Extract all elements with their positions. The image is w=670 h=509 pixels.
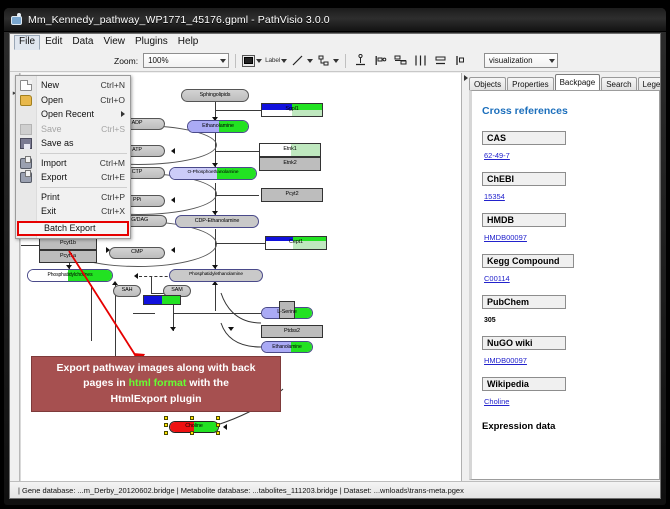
- node-label: PPi: [133, 198, 141, 203]
- tab-properties[interactable]: Properties: [507, 77, 553, 90]
- menu-data[interactable]: Data: [67, 35, 98, 49]
- menu-item-accelerator: Ctrl+N: [101, 80, 130, 90]
- tab-backpage[interactable]: Backpage: [555, 74, 601, 90]
- node-label: Sgpl1: [285, 107, 298, 112]
- zoom-combobox[interactable]: 100%: [143, 53, 229, 68]
- chevron-right-icon: [121, 111, 125, 117]
- annotation-line3: HtmlExport plugin: [111, 393, 202, 405]
- tab-search[interactable]: Search: [601, 77, 636, 90]
- window-frame: Mm_Kennedy_pathway_WP1771_45176.gpml - P…: [4, 8, 666, 505]
- same-width-icon[interactable]: [412, 52, 429, 69]
- visualization-combobox[interactable]: visualization: [484, 53, 558, 68]
- node-label: Sphingolipids: [200, 93, 231, 98]
- menu-item-accelerator: Ctrl+P: [101, 192, 130, 202]
- annotation-line2-before: pages in: [83, 377, 129, 389]
- menu-item-print[interactable]: Print Ctrl+P: [16, 190, 130, 205]
- xref-chebi: ChEBI 15354: [482, 172, 649, 204]
- zoom-value: 100%: [148, 56, 168, 65]
- menu-item-accelerator: Ctrl+O: [100, 95, 130, 105]
- node-label: Pcyt1b: [60, 241, 76, 246]
- node-label: CMP: [131, 250, 143, 255]
- menu-item-label: Batch Export: [44, 223, 127, 233]
- node-label: Phosphatidylethanolamine: [189, 273, 243, 278]
- xref-value-link[interactable]: C00114: [484, 274, 510, 283]
- chevron-down-icon: [549, 59, 555, 63]
- menu-item-accelerator: Ctrl+M: [100, 158, 130, 168]
- node-label: ATP: [132, 148, 142, 153]
- menu-item-label: Print: [41, 192, 101, 202]
- xref-hmdb: HMDB HMDB00097: [482, 213, 649, 245]
- toolbar: Zoom: 100% Label: [10, 50, 660, 72]
- xref-value-link[interactable]: 62-49-7: [484, 151, 510, 160]
- menu-item-accelerator: Ctrl+E: [101, 172, 130, 182]
- menu-item-label: Save as: [41, 138, 125, 148]
- xref-kegg-compound: Kegg Compound C00114: [482, 254, 649, 286]
- node-label: Phosphatidylcholines: [48, 273, 93, 278]
- xref-source-label: Wikipedia: [482, 377, 566, 391]
- line-tool-button[interactable]: [290, 52, 313, 69]
- window-titlebar: Mm_Kennedy_pathway_WP1771_45176.gpml - P…: [4, 8, 666, 32]
- open-folder-icon: [20, 95, 32, 106]
- xref-source-label: Kegg Compound: [482, 254, 574, 268]
- xref-value-link[interactable]: Choline: [484, 397, 509, 406]
- interaction-tool-button[interactable]: [316, 52, 339, 69]
- menu-item-label: Import: [41, 158, 100, 168]
- xref-source-label: PubChem: [482, 295, 566, 309]
- menu-item-import[interactable]: Import Ctrl+M: [16, 156, 130, 171]
- xref-source-label: HMDB: [482, 213, 566, 227]
- menu-item-accelerator: Ctrl+X: [101, 206, 130, 216]
- arrowhead-icon: [223, 424, 227, 430]
- resize-handle-nw[interactable]: [164, 416, 168, 420]
- expression-half-left: [144, 296, 162, 304]
- node-label: Pcyt2: [286, 192, 299, 197]
- menu-item-accelerator: Ctrl+S: [101, 124, 130, 134]
- same-height-icon[interactable]: [392, 52, 409, 69]
- menu-item-open-recent[interactable]: Open Recent: [16, 107, 130, 122]
- datanode-tool-icon: [242, 55, 255, 67]
- node-label: L-Serine: [277, 310, 297, 315]
- menu-item-exit[interactable]: Exit Ctrl+X: [16, 204, 130, 219]
- node-label: Ethanolamine: [272, 345, 301, 350]
- chevron-down-icon: [333, 59, 339, 63]
- xref-source-label: ChEBI: [482, 172, 566, 186]
- save-disk-icon: [20, 124, 32, 135]
- resize-handle-se[interactable]: [216, 431, 220, 435]
- xref-source-label: NuGO wiki: [482, 336, 566, 350]
- menu-item-label: New: [41, 80, 101, 90]
- menu-view[interactable]: View: [98, 35, 130, 49]
- menu-item-label: Open Recent: [41, 109, 121, 119]
- xref-source-label: CAS: [482, 131, 566, 145]
- menu-item-save-as[interactable]: Save as: [16, 136, 130, 151]
- align-left-icon[interactable]: [372, 52, 389, 69]
- menu-help[interactable]: Help: [173, 35, 204, 49]
- window-title: Mm_Kennedy_pathway_WP1771_45176.gpml - P…: [28, 14, 330, 26]
- node-label: Cept1: [289, 240, 303, 245]
- label-tool-button[interactable]: Label: [265, 57, 287, 64]
- node-label: CDP-Ethanolamine: [195, 219, 240, 224]
- menu-file[interactable]: File: [14, 35, 40, 50]
- node-label: ADP: [132, 121, 143, 126]
- align-top-icon[interactable]: [352, 52, 369, 69]
- xref-value-link[interactable]: HMDB00097: [484, 233, 527, 242]
- resize-handle-w[interactable]: [164, 423, 168, 427]
- node-label: Etnk2: [283, 161, 296, 166]
- xref-value-link[interactable]: 15354: [484, 192, 505, 201]
- interaction-tool-icon: [316, 52, 332, 69]
- resize-handle-s[interactable]: [190, 431, 194, 435]
- toolbar-separator: [345, 54, 346, 68]
- selection-handles[interactable]: [164, 416, 224, 438]
- resize-handle-n[interactable]: [190, 416, 194, 420]
- xref-nugo-wiki: NuGO wiki HMDB00097: [482, 336, 649, 368]
- export-icon: [20, 172, 32, 183]
- line-tool-icon: [290, 52, 306, 69]
- statusbar-text: | Gene database: ...m_Derby_20120602.bri…: [18, 486, 464, 495]
- node-label: SAH: [122, 288, 133, 293]
- node-label: Pcyt1a: [60, 254, 76, 259]
- node-label: SAM: [171, 288, 182, 293]
- xref-value-link[interactable]: HMDB00097: [484, 356, 527, 365]
- resize-handle-sw[interactable]: [164, 431, 168, 435]
- node-label: Etnk1: [283, 147, 296, 152]
- menu-edit[interactable]: Edit: [40, 35, 67, 49]
- annotation-line2-after: with the: [186, 377, 229, 389]
- stack-icon[interactable]: [432, 52, 449, 69]
- import-icon: [20, 158, 32, 169]
- expression-data-title: Expression data: [482, 421, 649, 432]
- resize-handle-ne[interactable]: [216, 416, 220, 420]
- menu-item-label: Open: [41, 95, 100, 105]
- node-label: O-Phosphoethanolamine: [188, 171, 239, 176]
- annotation-line1: Export pathway images along with back: [57, 362, 256, 374]
- menu-plugins[interactable]: Plugins: [130, 35, 173, 49]
- resize-handle-e[interactable]: [216, 423, 220, 427]
- file-menu-dropdown[interactable]: New Ctrl+N Open Ctrl+O Open Recent Save …: [15, 75, 131, 239]
- menu-item-new[interactable]: New Ctrl+N: [16, 78, 130, 93]
- panel-title: Cross references: [482, 105, 649, 117]
- menu-separator: [40, 187, 127, 188]
- chevron-down-icon: [220, 59, 226, 63]
- zoom-label: Zoom:: [114, 56, 138, 66]
- chevron-down-icon: [281, 59, 287, 63]
- xref-wikipedia: Wikipedia Choline: [482, 377, 649, 409]
- screenshot-root: Mm_Kennedy_pathway_WP1771_45176.gpml - P…: [0, 0, 670, 509]
- new-document-icon: [20, 80, 32, 91]
- annotation-callout: Export pathway images along with back pa…: [31, 356, 281, 412]
- node-label: Ethanolamine: [202, 124, 234, 129]
- annotation-highlight: html format: [129, 377, 187, 389]
- sidebar: Objects Properties Backpage Search Legen…: [462, 73, 661, 482]
- application-surface: File Edit Data View Plugins Help Zoom: 1…: [9, 33, 661, 499]
- statusbar: | Gene database: ...m_Derby_20120602.bri…: [10, 481, 661, 498]
- tab-objects[interactable]: Objects: [469, 77, 506, 90]
- menu-item-label: Save: [41, 124, 101, 134]
- group-icon[interactable]: [452, 52, 469, 69]
- xref-pubchem: PubChem 305: [482, 295, 649, 327]
- xref-value-text: 305: [484, 317, 496, 324]
- menu-separator: [40, 153, 127, 154]
- backpage-panel: Cross references CAS 62-49-7 ChEBI 15354…: [469, 90, 660, 480]
- node-label: Ptdss2: [284, 329, 300, 334]
- visualization-value: visualization: [489, 56, 533, 65]
- menu-item-export[interactable]: Export Ctrl+E: [16, 170, 130, 185]
- save-as-disk-icon: [20, 138, 32, 149]
- toolbar-separator: [235, 54, 236, 68]
- chevron-down-icon: [307, 59, 313, 63]
- xref-cas: CAS 62-49-7: [482, 131, 649, 163]
- datanode-tool-button[interactable]: [242, 55, 262, 67]
- pathvisio-app-icon: [10, 13, 23, 26]
- menubar: File Edit Data View Plugins Help: [10, 34, 660, 50]
- menu-item-label: Exit: [41, 206, 101, 216]
- expression-half-right: [162, 296, 180, 304]
- menu-item-label: Export: [41, 172, 101, 182]
- menu-item-batch-export[interactable]: Batch Export: [17, 221, 129, 236]
- label-tool-label: Label: [265, 57, 280, 64]
- menu-item-save: Save Ctrl+S: [16, 122, 130, 137]
- tab-legend[interactable]: Legend: [638, 77, 661, 90]
- sidebar-tabs: Objects Properties Backpage Search Legen…: [462, 73, 661, 90]
- menu-item-open[interactable]: Open Ctrl+O: [16, 93, 130, 108]
- chevron-down-icon: [256, 59, 262, 63]
- gene-strip[interactable]: [143, 295, 181, 305]
- node-label: CTP: [132, 170, 142, 175]
